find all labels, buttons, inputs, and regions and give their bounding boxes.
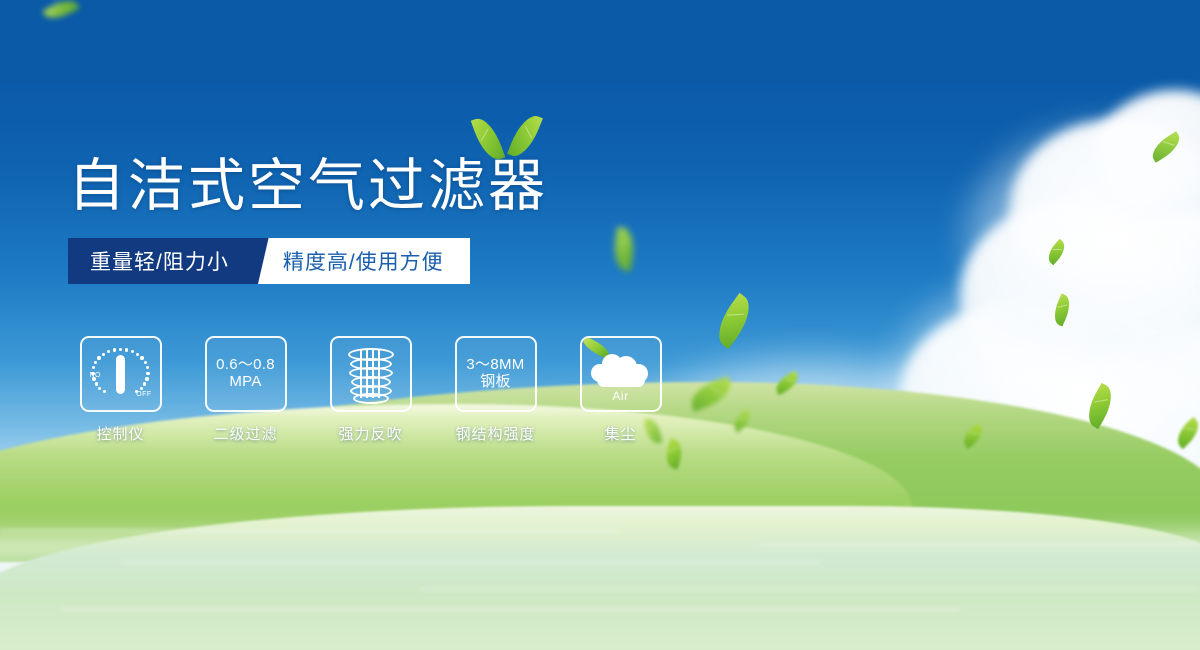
feature-label: 集尘 — [604, 423, 636, 444]
subtitle-right-badge: 精度高/使用方便 — [277, 238, 470, 284]
page-title: 自洁式空气过滤器 — [68, 140, 548, 222]
feature-icon-box: NO OFF — [80, 336, 162, 412]
feature-item-steel-strength[interactable]: 3～8MM 钢板 钢结构强度 — [445, 336, 546, 444]
feature-icon-box: Air — [580, 336, 662, 412]
filter-stack-icon — [342, 346, 400, 402]
feature-label: 二级过滤 — [213, 423, 277, 444]
gauge-label-off: OFF — [136, 391, 151, 398]
product-hero-banner: 自洁式空气过滤器 重量轻/阻力小 精度高/使用方便 — [0, 0, 1200, 650]
gauge-label-no: NO — [90, 372, 101, 379]
grass-streak — [120, 562, 820, 564]
steel-value-line1: 3～8MM — [466, 357, 524, 374]
feature-item-secondary-filter[interactable]: 0.6～0.8 MPA 二级过滤 — [195, 336, 296, 444]
feature-icon-box: 0.6～0.8 MPA — [205, 336, 287, 412]
pressure-value-line1: 0.6～0.8 — [216, 357, 275, 374]
feature-item-controller[interactable]: NO OFF 控制仪 — [70, 336, 171, 444]
feature-icon-box: 3～8MM 钢板 — [455, 336, 537, 412]
gauge-icon: NO OFF — [90, 346, 152, 402]
steel-value-line2: 钢板 — [480, 374, 511, 391]
pressure-value-line2: MPA — [229, 374, 261, 391]
feature-list: NO OFF 控制仪 0.6～0.8 MPA 二级过滤 — [70, 336, 671, 444]
subtitle-badge-bar: 重量轻/阻力小 精度高/使用方便 — [68, 238, 470, 284]
feature-item-dust-collection[interactable]: Air 集尘 — [570, 336, 671, 444]
grass-streak — [0, 530, 620, 532]
feature-label: 控制仪 — [96, 423, 144, 444]
feature-item-blowback[interactable]: 强力反吹 — [320, 336, 421, 444]
air-cloud-icon: Air — [589, 346, 653, 402]
feature-icon-box — [330, 336, 412, 412]
feature-label: 强力反吹 — [338, 423, 402, 444]
subtitle-left-badge: 重量轻/阻力小 — [68, 238, 251, 284]
grass-streak — [420, 588, 1200, 590]
feature-label: 钢结构强度 — [455, 423, 535, 444]
subtitle-divider-slash — [251, 238, 277, 284]
gauge-needle — [116, 355, 125, 394]
grass-streak — [60, 608, 960, 610]
air-label: Air — [589, 389, 653, 403]
grass-streak — [760, 544, 1200, 546]
